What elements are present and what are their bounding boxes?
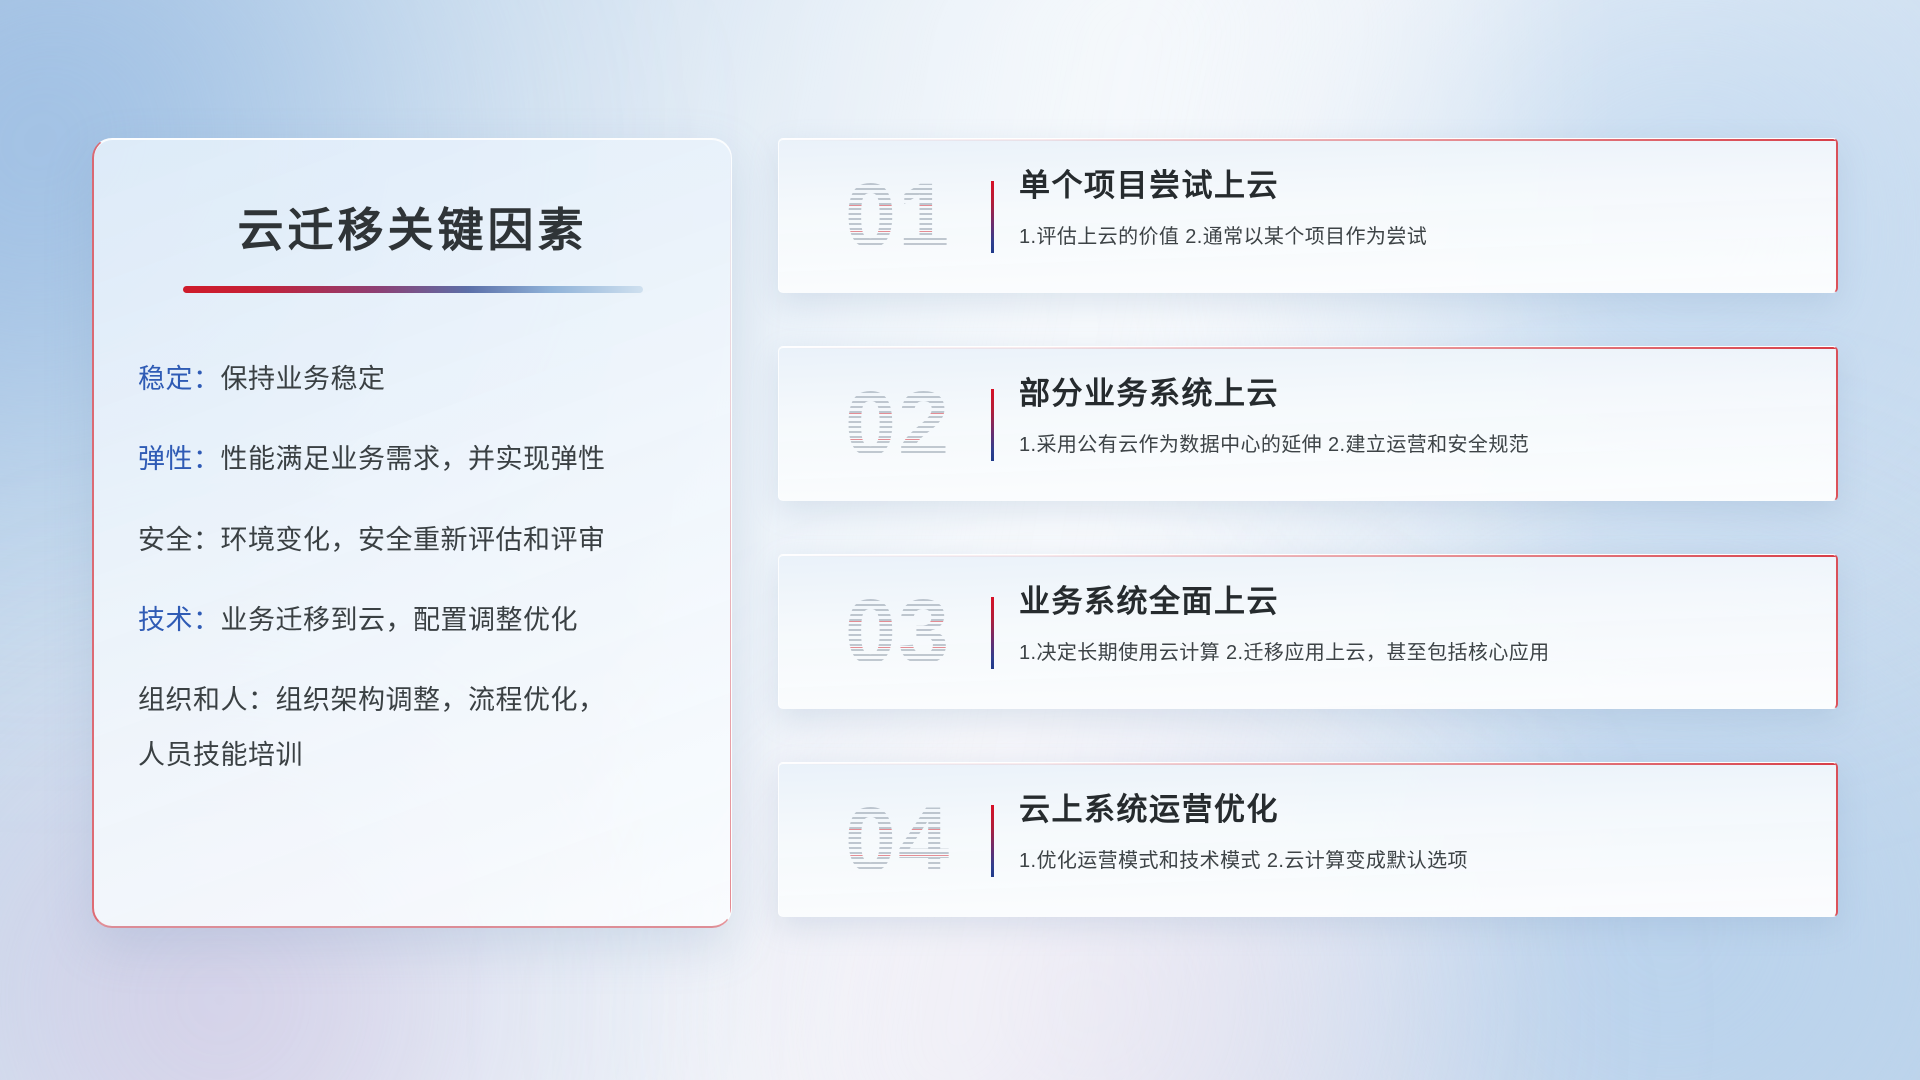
stage-title: 单个项目尝试上云 <box>1019 167 1810 204</box>
list-item-continuation: 人员技能培训 <box>138 741 698 769</box>
stage-divider-bar <box>991 181 994 253</box>
stage-card-01[interactable]: 01 01 单个项目尝试上云 1.评估上云的价值 2.通常以某个项目作为尝试 <box>778 138 1838 293</box>
stage-divider-bar <box>991 389 994 461</box>
factor-text-continuation: 人员技能培训 <box>138 740 303 770</box>
stage-title: 业务系统全面上云 <box>1019 583 1810 620</box>
stage-divider-bar <box>991 805 994 877</box>
stage-card-body: 业务系统全面上云 1.决定长期使用云计算 2.迁移应用上云，甚至包括核心应用 <box>1019 583 1810 665</box>
factor-text: 组织架构调整，流程优化， <box>276 685 606 715</box>
stage-card-02[interactable]: 02 02 部分业务系统上云 1.采用公有云作为数据中心的延伸 2.建立运营和安… <box>778 346 1838 501</box>
stage-card-04[interactable]: 04 04 云上系统运营优化 1.优化运营模式和技术模式 2.云计算变成默认选项 <box>778 762 1838 917</box>
factor-text: 保持业务稳定 <box>221 364 386 394</box>
factor-text: 业务迁移到云，配置调整优化 <box>221 605 579 635</box>
list-item: 组织和人：组织架构调整，流程优化， <box>138 686 698 714</box>
stage-number-02-highlight: 02 <box>803 361 993 487</box>
stage-card-body: 云上系统运营优化 1.优化运营模式和技术模式 2.云计算变成默认选项 <box>1019 791 1810 873</box>
factor-label: 技术： <box>138 605 221 635</box>
stage-number-01-highlight: 01 <box>803 153 993 279</box>
stage-cards-list: 01 01 单个项目尝试上云 1.评估上云的价值 2.通常以某个项目作为尝试 0… <box>778 138 1838 917</box>
slide-stage: 云迁移关键因素 稳定：保持业务稳定 弹性：性能满足业务需求，并实现弹性 安全：环… <box>0 0 1920 1080</box>
list-item: 稳定：保持业务稳定 <box>138 365 698 393</box>
stage-card-body: 单个项目尝试上云 1.评估上云的价值 2.通常以某个项目作为尝试 <box>1019 167 1810 249</box>
stage-title: 部分业务系统上云 <box>1019 375 1810 412</box>
list-item: 弹性：性能满足业务需求，并实现弹性 <box>138 445 698 473</box>
key-factors-list: 稳定：保持业务稳定 弹性：性能满足业务需求，并实现弹性 安全：环境变化，安全重新… <box>138 365 698 769</box>
stage-card-03[interactable]: 03 03 业务系统全面上云 1.决定长期使用云计算 2.迁移应用上云，甚至包括… <box>778 554 1838 709</box>
page-title: 云迁移关键因素 <box>94 194 731 260</box>
list-item: 安全：环境变化，安全重新评估和评审 <box>138 526 698 554</box>
stage-divider-bar <box>991 597 994 669</box>
stage-number-03-highlight: 03 <box>803 569 993 695</box>
factor-text: 环境变化，安全重新评估和评审 <box>221 525 606 555</box>
stage-number-04-highlight: 04 <box>803 777 993 903</box>
factor-label: 安全： <box>138 525 221 555</box>
stage-description: 1.决定长期使用云计算 2.迁移应用上云，甚至包括核心应用 <box>1019 636 1810 665</box>
factor-label: 稳定： <box>138 364 221 394</box>
title-underline-rule <box>183 286 643 293</box>
factor-text: 性能满足业务需求，并实现弹性 <box>221 444 606 474</box>
stage-card-body: 部分业务系统上云 1.采用公有云作为数据中心的延伸 2.建立运营和安全规范 <box>1019 375 1810 457</box>
factor-label: 组织和人： <box>138 685 276 715</box>
key-factors-panel: 云迁移关键因素 稳定：保持业务稳定 弹性：性能满足业务需求，并实现弹性 安全：环… <box>92 138 732 928</box>
stage-title: 云上系统运营优化 <box>1019 791 1810 828</box>
stage-description: 1.优化运营模式和技术模式 2.云计算变成默认选项 <box>1019 844 1810 873</box>
stage-description: 1.采用公有云作为数据中心的延伸 2.建立运营和安全规范 <box>1019 428 1810 457</box>
factor-label: 弹性： <box>138 444 221 474</box>
list-item: 技术：业务迁移到云，配置调整优化 <box>138 606 698 634</box>
stage-description: 1.评估上云的价值 2.通常以某个项目作为尝试 <box>1019 220 1810 249</box>
